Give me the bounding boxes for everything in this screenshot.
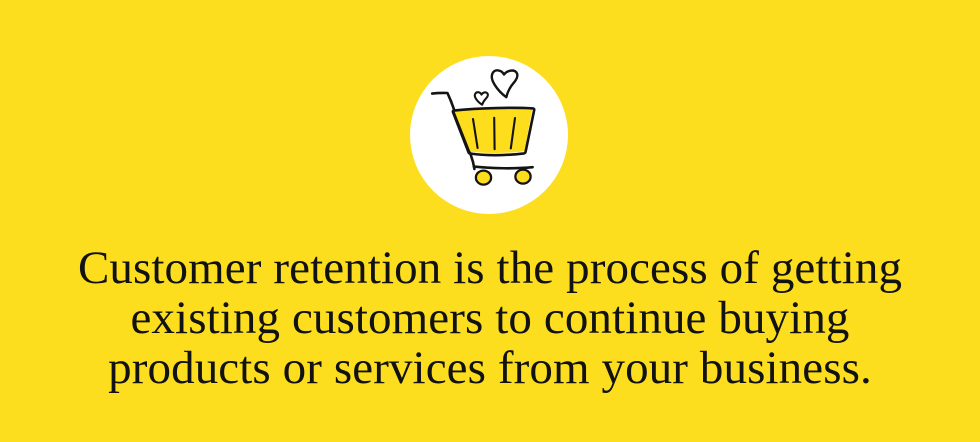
heart-small-icon	[475, 92, 488, 104]
quote-block: Customer retention is the process of get…	[0, 243, 980, 393]
quote-card: Customer retention is the process of get…	[0, 0, 980, 442]
cart-axle-icon	[474, 167, 533, 169]
cart-handle-icon	[432, 93, 451, 101]
shopping-cart-hearts-icon	[410, 56, 568, 214]
cart-wheel-left-icon	[476, 171, 491, 185]
quote-text: Customer retention is the process of get…	[28, 243, 952, 393]
cart-wheel-right-icon	[515, 170, 530, 184]
heart-large-icon	[492, 70, 517, 97]
